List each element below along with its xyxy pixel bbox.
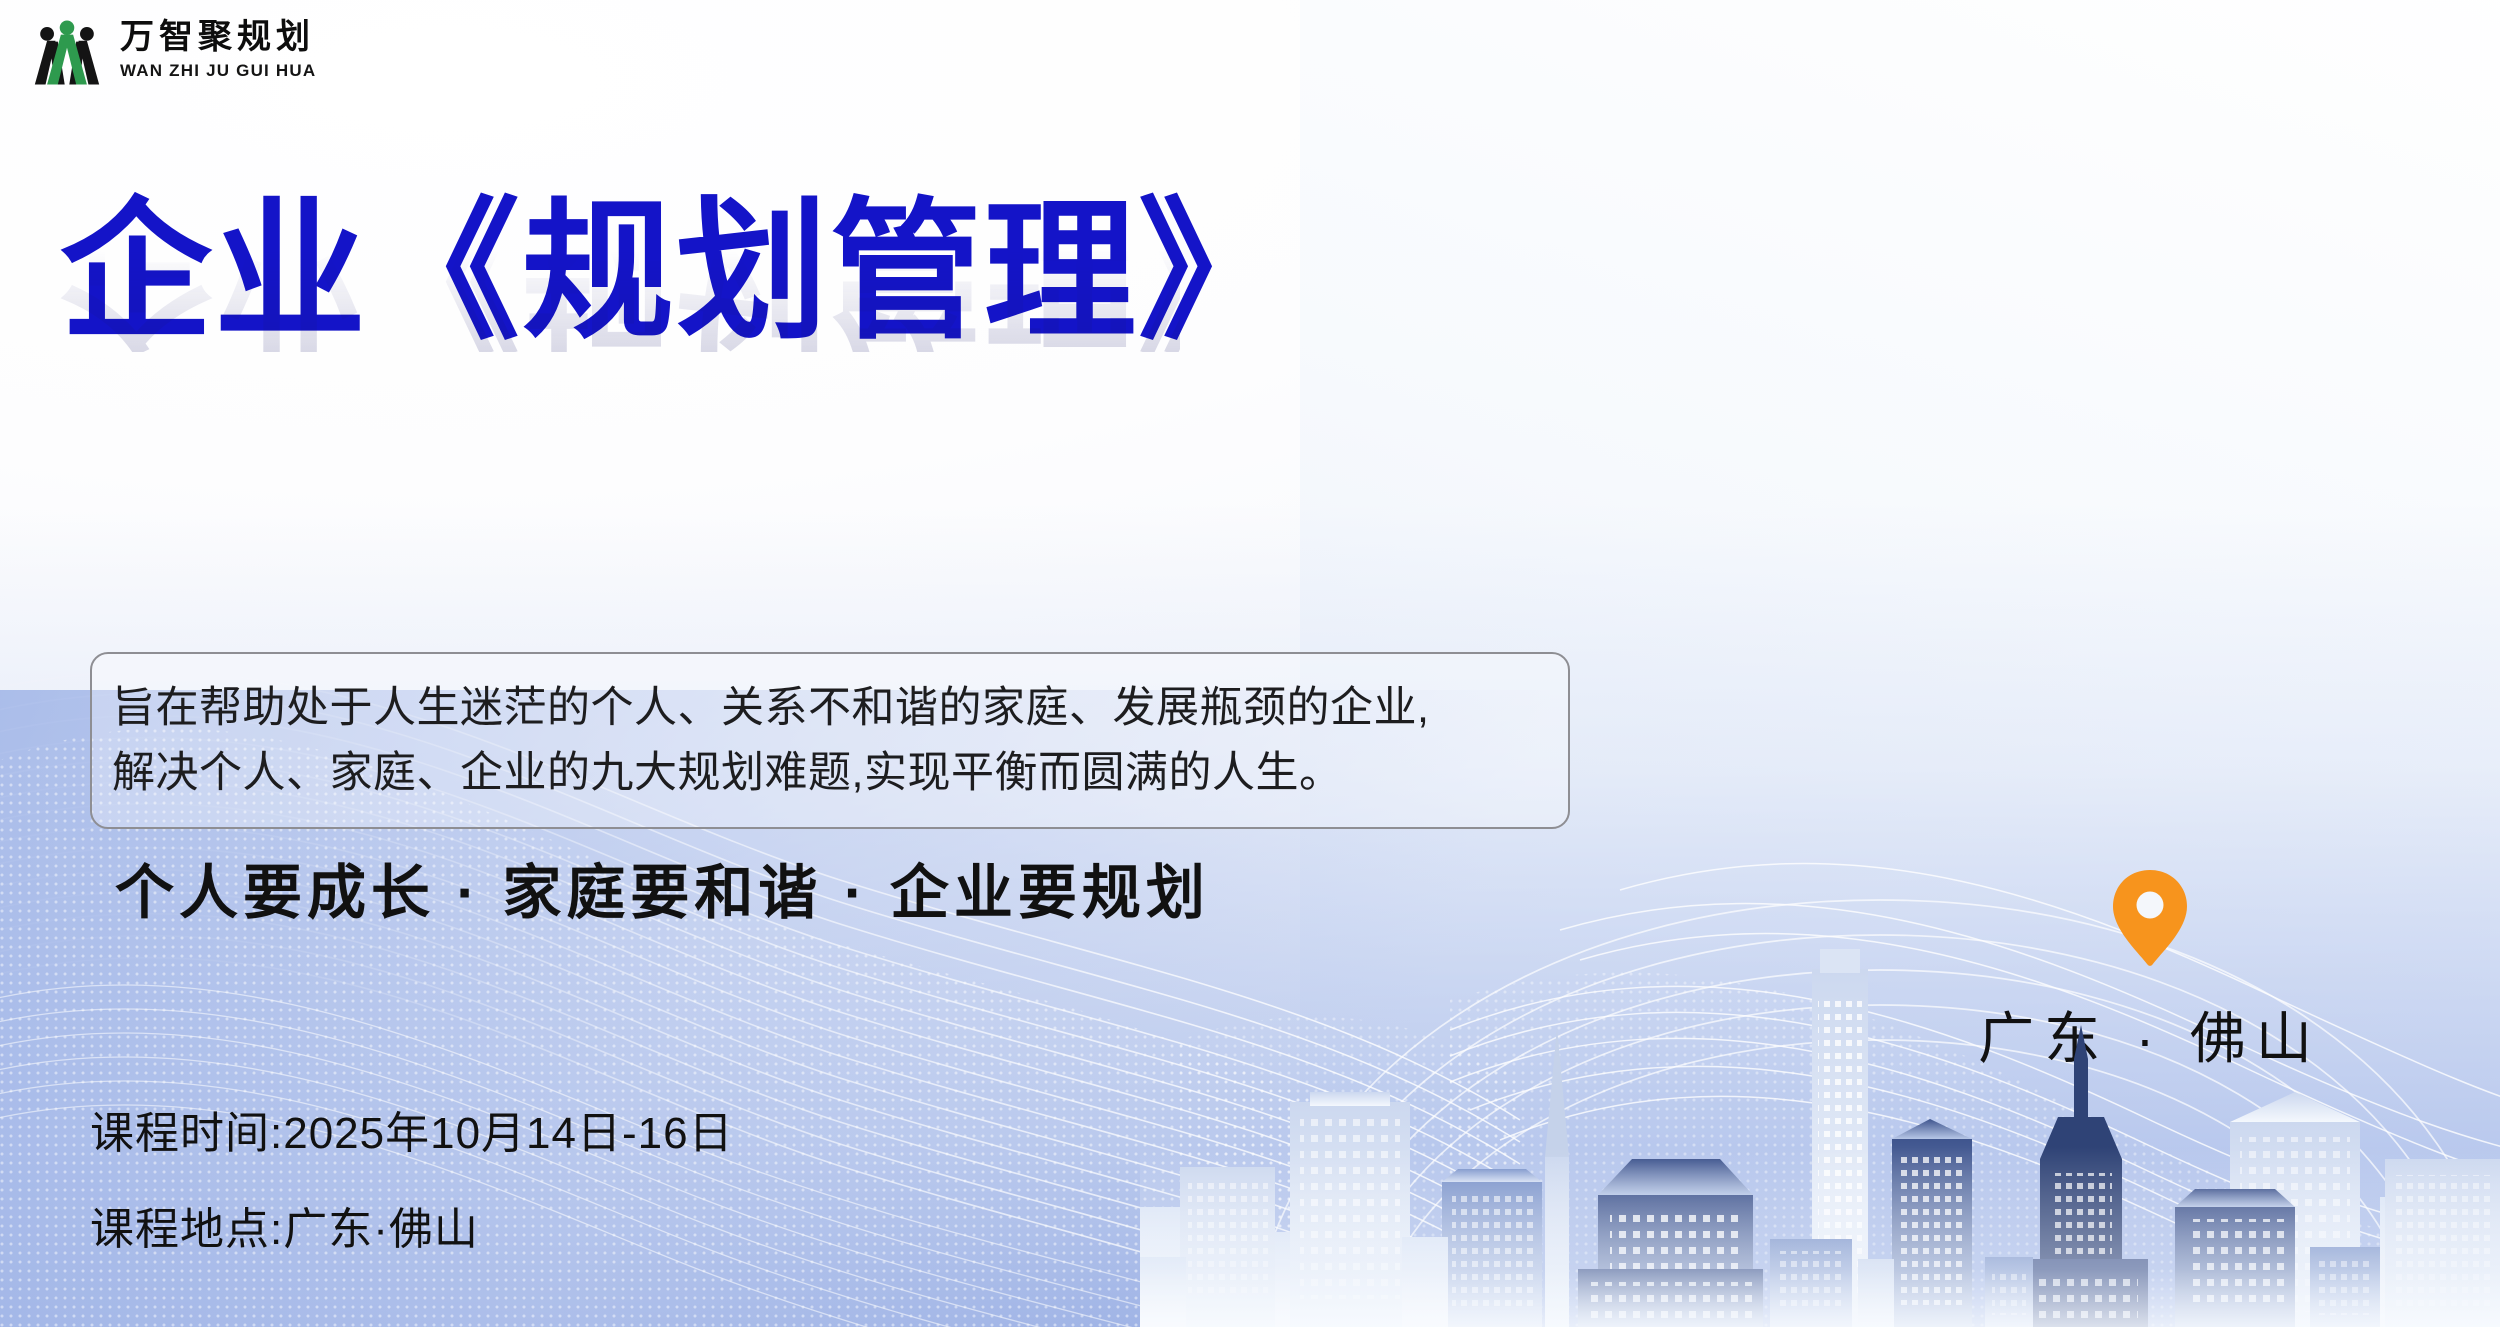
description-box: 旨在帮助处于人生迷茫的个人、关系不和谐的家庭、发展瓶颈的企业, 解决个人、家庭、…	[90, 652, 1570, 829]
course-place-line: 课程地点:广东·佛山	[90, 1208, 734, 1252]
poster-canvas: 万智聚规划 WAN ZHI JU GUI HUA 企业《规划管理》 企业《规划管…	[0, 0, 2500, 1327]
location-label: 广东 · 佛山	[1960, 994, 2340, 1075]
course-time-line: 课程时间:2025年10月14日-16日	[90, 1112, 734, 1156]
page-title-reflection: 企业《规划管理》	[60, 240, 1180, 352]
schedule-info: 课程时间:2025年10月14日-16日 课程地点:广东·佛山	[90, 1112, 734, 1252]
brand-name-en: WAN ZHI JU GUI HUA	[120, 62, 316, 79]
slogan-text: 个人要成长 · 家庭要和谐 · 企业要规划	[115, 845, 1210, 930]
three-people-logo-icon	[28, 14, 106, 86]
description-line-2: 解决个人、家庭、企业的九大规划难题,实现平衡而圆满的人生。	[112, 741, 1544, 806]
brand-logo: 万智聚规划 WAN ZHI JU GUI HUA	[28, 14, 316, 86]
brand-name-cn: 万智聚规划	[120, 21, 316, 55]
map-pin-icon	[2111, 868, 2189, 968]
location-block: 广东 · 佛山	[1960, 868, 2340, 1075]
description-line-1: 旨在帮助处于人生迷茫的个人、关系不和谐的家庭、发展瓶颈的企业,	[112, 676, 1544, 741]
hero-title-block: 企业《规划管理》 企业《规划管理》	[60, 196, 1180, 464]
